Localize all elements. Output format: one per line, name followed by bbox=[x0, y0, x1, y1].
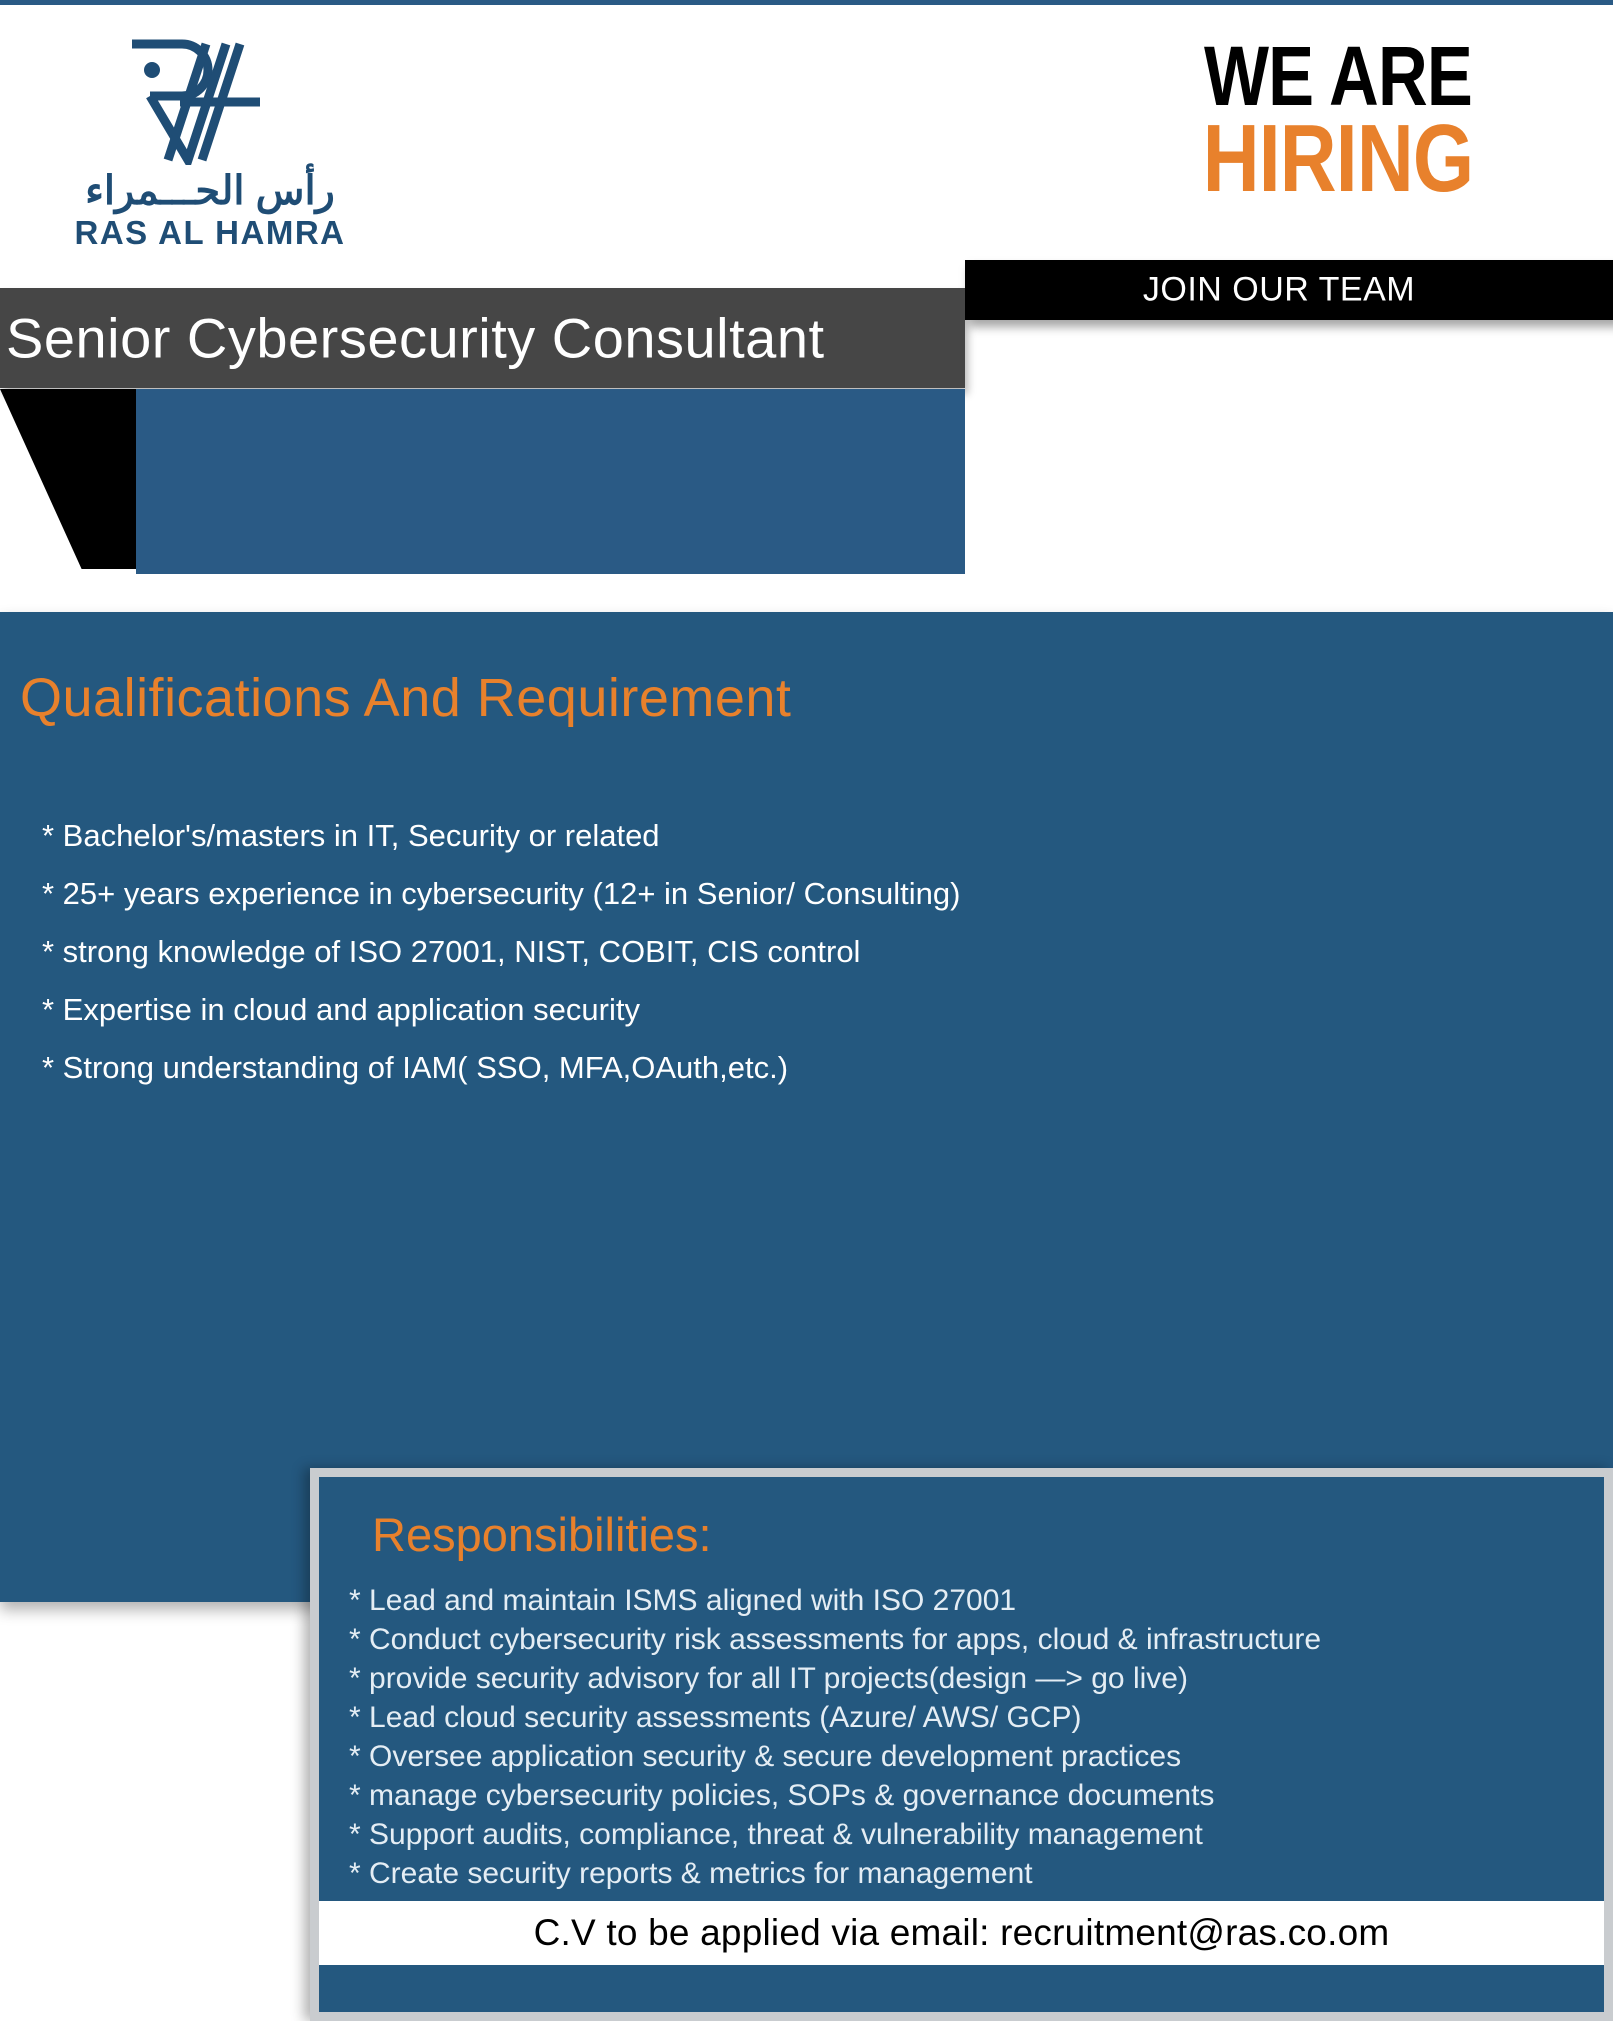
company-logo: رأس الحـــمراء RAS AL HAMRA bbox=[45, 30, 375, 251]
black-wedge-decoration bbox=[0, 389, 136, 569]
company-name-latin: RAS AL HAMRA bbox=[45, 215, 375, 251]
company-name-arabic: رأس الحـــمراء bbox=[45, 169, 375, 213]
hiring-label: HIRING bbox=[1203, 115, 1474, 203]
responsibilities-list: * Lead and maintain ISMS aligned with IS… bbox=[349, 1581, 1584, 1893]
falcon-eye-icon bbox=[144, 62, 160, 78]
qualifications-heading: Qualifications And Requirement bbox=[20, 667, 791, 729]
list-item: * Lead cloud security assessments (Azure… bbox=[349, 1698, 1584, 1737]
list-item: * Bachelor's/masters in IT, Security or … bbox=[42, 807, 1553, 865]
list-item: * Expertise in cloud and application sec… bbox=[42, 981, 1553, 1039]
we-are-hiring-block: WE ARE HIRING bbox=[1173, 38, 1503, 204]
responsibilities-heading: Responsibilities: bbox=[372, 1507, 712, 1562]
job-title-bar: Senior Cybersecurity Consultant bbox=[0, 288, 965, 388]
apply-email-strip: C.V to be applied via email: recruitment… bbox=[319, 1901, 1604, 1965]
list-item: * Support audits, compliance, threat & v… bbox=[349, 1815, 1584, 1854]
top-blue-rule bbox=[0, 0, 1613, 5]
list-item: * Conduct cybersecurity risk assessments… bbox=[349, 1620, 1584, 1659]
list-item: * Strong understanding of IAM( SSO, MFA,… bbox=[42, 1039, 1553, 1097]
qualifications-list: * Bachelor's/masters in IT, Security or … bbox=[42, 807, 1553, 1097]
join-our-team-bar: JOIN OUR TEAM bbox=[965, 260, 1613, 320]
we-are-label: WE ARE bbox=[1203, 38, 1474, 115]
blue-slab-decoration bbox=[136, 389, 965, 574]
job-posting-poster: رأس الحـــمراء RAS AL HAMRA WE ARE HIRIN… bbox=[0, 0, 1613, 2021]
responsibilities-panel: Responsibilities: * Lead and maintain IS… bbox=[310, 1468, 1613, 2021]
list-item: * Lead and maintain ISMS aligned with IS… bbox=[349, 1581, 1584, 1620]
responsibilities-inner: Responsibilities: * Lead and maintain IS… bbox=[319, 1477, 1604, 2012]
job-title: Senior Cybersecurity Consultant bbox=[6, 306, 825, 371]
header-band: رأس الحـــمراء RAS AL HAMRA WE ARE HIRIN… bbox=[0, 0, 1613, 612]
qualifications-panel: Qualifications And Requirement * Bachelo… bbox=[0, 612, 1613, 1602]
list-item: * provide security advisory for all IT p… bbox=[349, 1659, 1584, 1698]
falcon-logo-icon bbox=[110, 30, 310, 165]
list-item: * Create security reports & metrics for … bbox=[349, 1854, 1584, 1893]
join-our-team-label: JOIN OUR TEAM bbox=[965, 271, 1593, 310]
list-item: * Oversee application security & secure … bbox=[349, 1737, 1584, 1776]
list-item: * 25+ years experience in cybersecurity … bbox=[42, 865, 1553, 923]
list-item: * manage cybersecurity policies, SOPs & … bbox=[349, 1776, 1584, 1815]
list-item: * strong knowledge of ISO 27001, NIST, C… bbox=[42, 923, 1553, 981]
apply-email-text: C.V to be applied via email: recruitment… bbox=[534, 1912, 1390, 1954]
